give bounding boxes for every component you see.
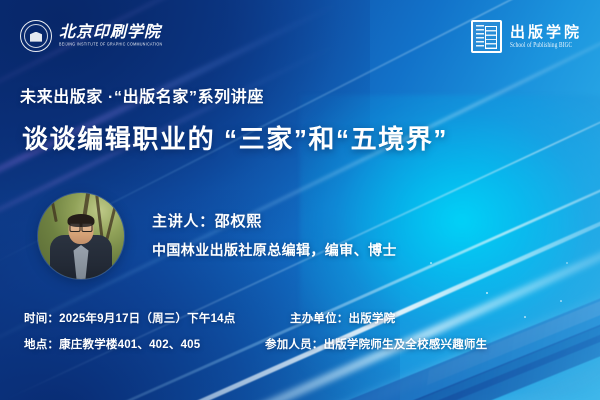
bigc-logo-en: BEIJING INSTITUTE OF GRAPHIC COMMUNICATI…: [59, 43, 162, 47]
sparkle-dot: [524, 316, 526, 318]
portrait-glasses-icon: [70, 223, 93, 230]
sparkle-dot: [560, 300, 562, 302]
sparkle-dot: [430, 262, 432, 264]
info-time: 时间：2025年9月17日（周三）下午14点: [24, 310, 235, 326]
university-crest-icon: [20, 20, 52, 52]
info-audience: 参加人员：出版学院师生及全校感兴趣师生: [265, 336, 487, 352]
lecture-poster: 北京印刷学院 BEIJING INSTITUTE OF GRAPHIC COMM…: [0, 0, 600, 400]
info-place: 地点：康庄教学楼401、402、405: [24, 336, 200, 352]
sparkle-dot: [566, 262, 568, 264]
publishing-seal-icon: [471, 20, 502, 53]
info-host: 主办单位：出版学院: [290, 310, 395, 326]
school-logo-text: 出版学院 School of Publishing BIGC: [510, 25, 582, 48]
bigc-logo-cn: 北京印刷学院: [59, 25, 162, 42]
bigc-logo-text: 北京印刷学院 BEIJING INSTITUTE OF GRAPHIC COMM…: [59, 25, 162, 46]
sparkle-dot: [486, 292, 488, 294]
speaker-title: 中国林业出版社原总编辑，编审、博士: [152, 240, 397, 260]
speaker-name: 主讲人：邵权熙: [152, 210, 262, 231]
series-title: 未来出版家 ·“出版名家”系列讲座: [20, 83, 264, 107]
school-logo-en: School of Publishing BIGC: [510, 43, 582, 50]
speaker-portrait: [38, 193, 124, 279]
school-of-publishing-logo: 出版学院 School of Publishing BIGC: [471, 20, 582, 53]
page-title: 谈谈编辑职业的 “三家”和“五境界”: [22, 119, 448, 156]
bigc-logo: 北京印刷学院 BEIJING INSTITUTE OF GRAPHIC COMM…: [20, 20, 162, 52]
school-logo-cn: 出版学院: [510, 25, 582, 42]
